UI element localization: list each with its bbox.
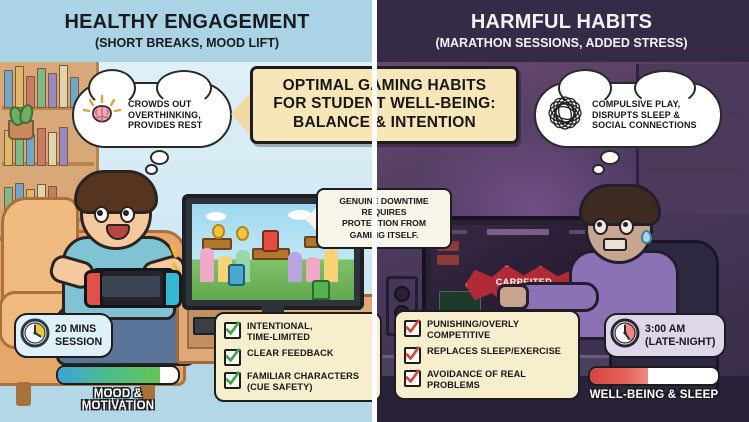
list-item-label: PUNISHING/OVERLY COMPETITIVE: [427, 319, 519, 341]
list-item: CLEAR FEEDBACK: [224, 348, 372, 366]
callout-line-3: PROTECTION FROM: [323, 218, 445, 229]
sweat-drop-icon: [641, 230, 652, 244]
list-item: PUNISHING/OVERLY COMPETITIVE: [404, 319, 570, 341]
check-icon: [404, 370, 421, 387]
thought-tail-right-big: [600, 150, 620, 165]
check-icon: [404, 347, 421, 364]
badge-session-time: 20 MINS SESSION: [14, 313, 113, 358]
checklist-harmful: PUNISHING/OVERLY COMPETITIVE REPLACES SL…: [394, 310, 580, 400]
badge-late-night-time: 3:00 AM (LATE-NIGHT): [604, 313, 726, 358]
list-item: AVOIDANCE OF REAL PROBLEMS: [404, 369, 570, 391]
banner-line-3: BALANCE & INTENTION: [259, 114, 510, 132]
left-title: HEALTHY ENGAGEMENT: [0, 0, 374, 32]
meter-track: [56, 365, 180, 385]
thought-bubble-healthy-text: CROWDS OUT OVERTHINKING, PROVIDES REST: [128, 99, 202, 132]
main-title-banner: OPTIMAL GAMING HABITS FOR STUDENT WELL-B…: [250, 66, 519, 144]
list-item: INTENTIONAL, TIME-LIMITED: [224, 321, 372, 343]
list-item: FAMILIAR CHARACTERS (CUE SAFETY): [224, 371, 372, 393]
callout-line-2: REQUIRES: [323, 207, 445, 218]
right-subtitle: (MARATHON SESSIONS, ADDED STRESS): [374, 32, 749, 50]
infographic-canvas: CARPEITED HEALTHY ENGAGEMENT: [0, 0, 749, 422]
right-title: HARMFUL HABITS: [374, 0, 749, 32]
list-item-label: CLEAR FEEDBACK: [247, 348, 334, 359]
brain-icon: [82, 94, 122, 137]
center-callout: GENUINE DOWNTIME REQUIRES PROTECTION FRO…: [316, 188, 452, 249]
banner-arrow-left: [231, 92, 251, 136]
callout-arrow-left: [305, 208, 316, 230]
thought-bubble-healthy: CROWDS OUT OVERTHINKING, PROVIDES REST: [72, 82, 232, 148]
list-item-label: INTENTIONAL, TIME-LIMITED: [247, 321, 313, 343]
list-item-label: FAMILIAR CHARACTERS (CUE SAFETY): [247, 371, 359, 393]
thought-tail-left-small: [145, 164, 158, 175]
header-right: HARMFUL HABITS (MARATHON SESSIONS, ADDED…: [374, 0, 749, 62]
callout-line-4: GAMING ITSELF.: [323, 230, 445, 241]
check-icon: [224, 372, 241, 389]
banner-line-2: FOR STUDENT WELL-BEING:: [259, 95, 510, 113]
header-left: HEALTHY ENGAGEMENT (SHORT BREAKS, MOOD L…: [0, 0, 374, 62]
clock-icon: [20, 318, 50, 353]
badge-label: 3:00 AM (LATE-NIGHT): [645, 323, 715, 347]
tangled-scribble-icon: [544, 93, 586, 138]
checklist-healthy: INTENTIONAL, TIME-LIMITED CLEAR FEEDBACK…: [214, 312, 382, 402]
meter-fill: [58, 367, 160, 383]
thought-tail-left-big: [150, 150, 169, 165]
check-icon: [404, 320, 421, 337]
meter-wellbeing-sleep: WELL-BEING & SLEEP: [588, 366, 720, 401]
thought-bubble-harmful-text: COMPULSIVE PLAY, DISRUPTS SLEEP & SOCIAL…: [592, 99, 697, 132]
list-item-label: REPLACES SLEEP/EXERCISE: [427, 346, 561, 357]
meter-mood-motivation: MOOD & MOTIVATION: [56, 365, 180, 412]
thought-bubble-harmful: COMPULSIVE PLAY, DISRUPTS SLEEP & SOCIAL…: [534, 82, 722, 148]
meter-track: [588, 366, 720, 386]
clock-icon: [610, 318, 640, 353]
panel-divider: [372, 0, 377, 422]
handheld-console: [92, 268, 174, 308]
check-icon: [224, 349, 241, 366]
left-subtitle: (SHORT BREAKS, MOOD LIFT): [0, 32, 374, 50]
thought-tail-right-small: [592, 164, 605, 175]
meter-fill: [590, 368, 648, 384]
banner-line-1: OPTIMAL GAMING HABITS: [259, 77, 510, 95]
list-item-label: AVOIDANCE OF REAL PROBLEMS: [427, 369, 526, 391]
list-item: REPLACES SLEEP/EXERCISE: [404, 346, 570, 364]
callout-line-1: GENUINE DOWNTIME: [323, 196, 445, 207]
meter-label: MOOD & MOTIVATION: [56, 388, 180, 412]
check-icon: [224, 322, 241, 339]
badge-label: 20 MINS SESSION: [55, 323, 102, 347]
meter-label: WELL-BEING & SLEEP: [588, 389, 720, 401]
